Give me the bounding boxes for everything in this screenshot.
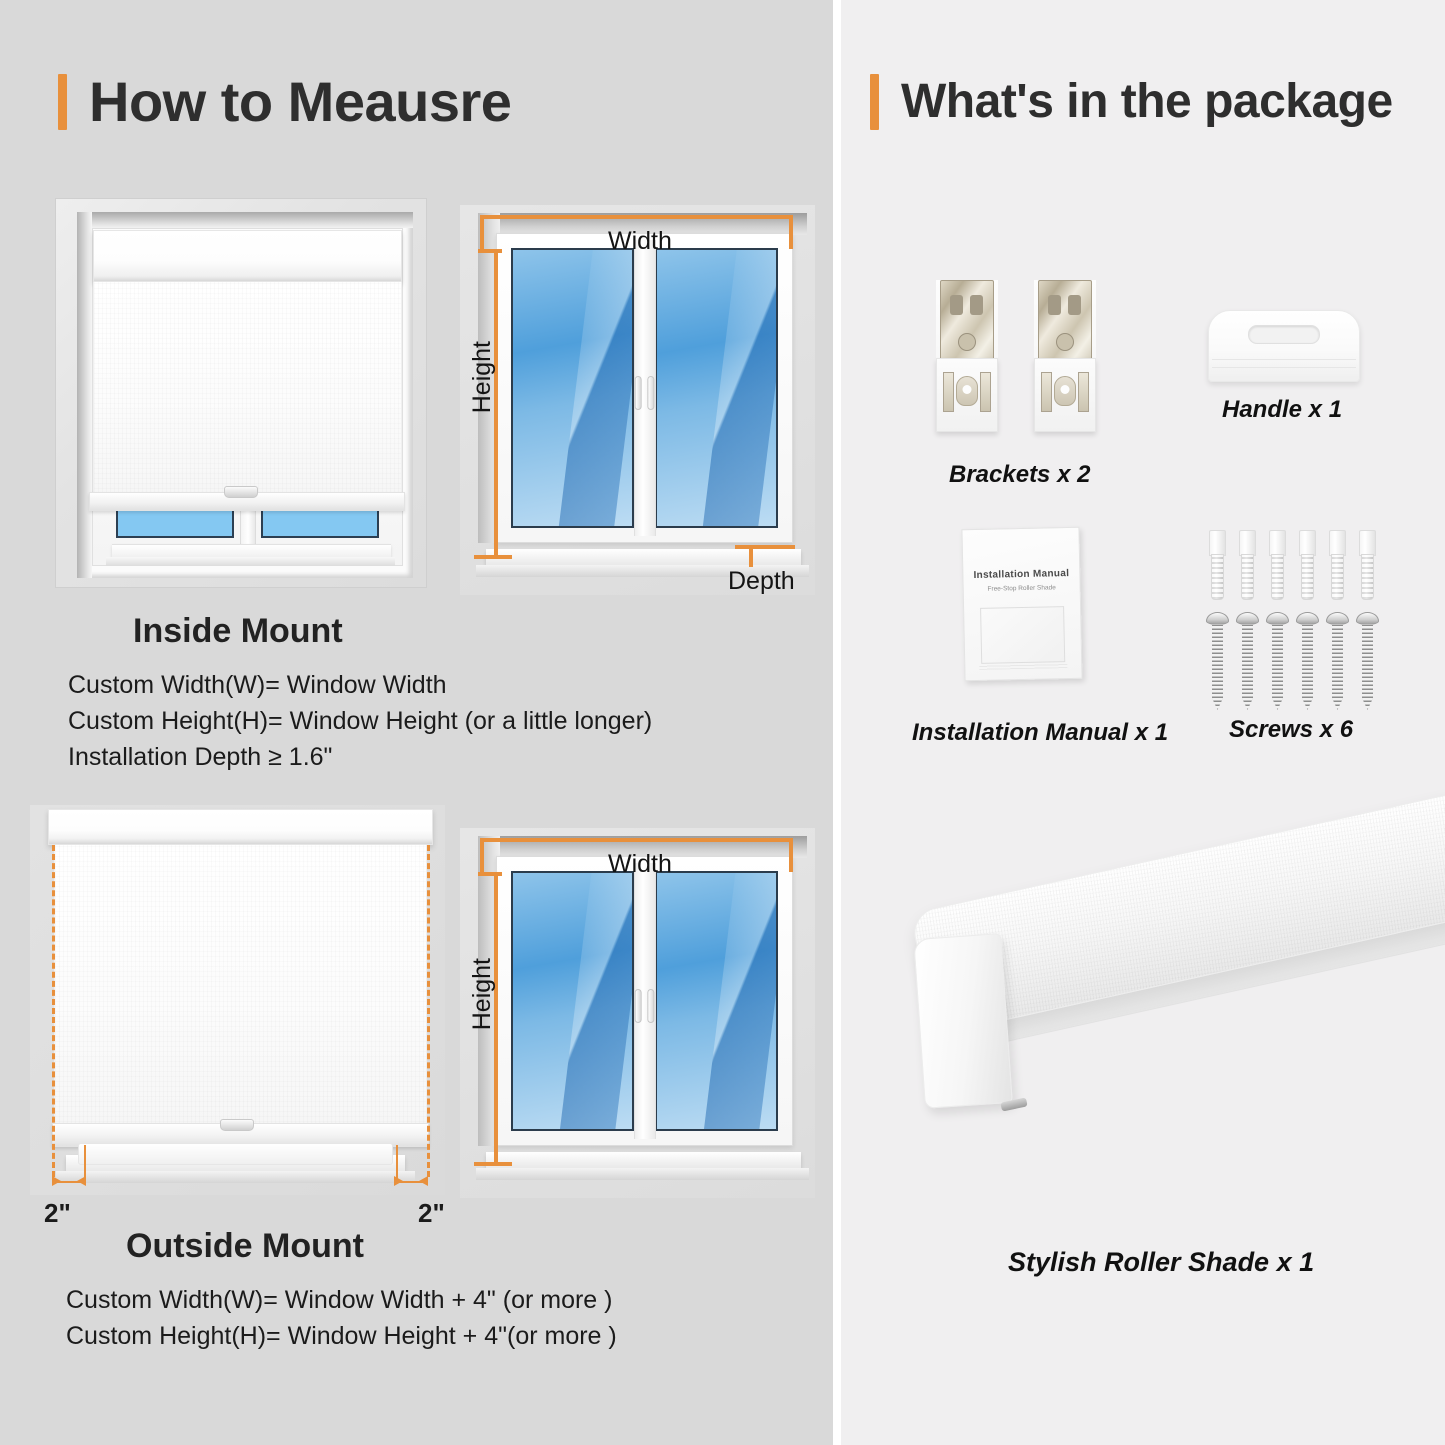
height-dimension-cap-bottom — [474, 555, 512, 559]
anchor-body — [1241, 554, 1254, 600]
accent-bar-icon — [870, 74, 879, 130]
heading-text: What's in the package — [901, 78, 1393, 126]
width-dimension-line — [480, 215, 793, 219]
left-edge-guide-line — [52, 845, 55, 1177]
screw-shaft — [1212, 624, 1223, 710]
inside-mount-line-2: Custom Height(H)= Window Height (or a li… — [68, 707, 652, 736]
right-overhang-arrow-start — [394, 1176, 403, 1186]
roller-shade-label: Stylish Roller Shade x 1 — [1008, 1247, 1314, 1278]
roller-shade-icon — [905, 888, 1440, 1218]
shade-valance — [48, 809, 433, 845]
shade-fabric — [54, 845, 427, 1127]
screw-head — [1296, 612, 1319, 625]
height-dimension-cap-top — [478, 872, 502, 876]
outside-mount-title: Outside Mount — [126, 1227, 364, 1266]
screw-shaft — [1362, 624, 1373, 710]
width-label: Width — [608, 850, 672, 879]
screw-icon — [1270, 612, 1285, 710]
anchor-head — [1329, 530, 1346, 556]
outside-mount-shade-illustration — [30, 805, 445, 1195]
bracket-tab-left — [943, 372, 954, 412]
wall-anchor-icon — [1269, 530, 1286, 600]
brackets-label: Brackets x 2 — [949, 461, 1090, 489]
shade-pull-handle-icon — [224, 486, 258, 498]
manual-cover-subtitle: Free-Stop Roller Shade — [964, 584, 1080, 593]
anchor-body — [1211, 554, 1224, 600]
handle-icon — [1208, 310, 1360, 382]
manual-label: Installation Manual x 1 — [912, 719, 1168, 747]
width-dimension-cap-left — [480, 215, 484, 249]
inside-mount-line-3: Installation Depth ≥ 1.6" — [68, 743, 332, 772]
manual-cover-title: Installation Manual — [963, 568, 1079, 581]
inside-mount-title: Inside Mount — [133, 612, 343, 651]
screw-shaft — [1242, 624, 1253, 710]
screw-icon — [1240, 612, 1255, 710]
window-sill-lip — [56, 1171, 415, 1183]
window-frame — [496, 233, 793, 543]
screw-head — [1236, 612, 1259, 625]
shade-valance — [93, 230, 402, 282]
screw-head — [1326, 612, 1349, 625]
bracket-tab-right — [1078, 372, 1089, 412]
bracket-icon — [1034, 280, 1096, 432]
window-frame-peek — [78, 1143, 393, 1165]
window-pane-right — [655, 248, 778, 528]
bracket-keyhole — [1054, 376, 1076, 406]
window-handle-left-icon — [634, 989, 641, 1023]
height-dimension-cap-top — [478, 249, 502, 253]
depth-label: Depth — [728, 567, 795, 596]
depth-dimension-cap — [749, 549, 753, 567]
bracket-tab-left — [1041, 372, 1052, 412]
window-handle-right-icon — [648, 989, 655, 1023]
anchor-body — [1361, 554, 1374, 600]
package-contents-heading: What's in the package — [870, 74, 1393, 130]
heading-text: How to Meausre — [89, 74, 511, 130]
outside-mount-line-2: Custom Height(H)= Window Height + 4"(or … — [66, 1322, 617, 1351]
right-overhang-label: 2" — [418, 1198, 445, 1229]
depth-dimension-line — [735, 545, 795, 549]
width-dimension-line — [480, 838, 793, 842]
wall-anchor-icon — [1209, 530, 1226, 600]
window-frame — [496, 856, 793, 1146]
accent-bar-icon — [58, 74, 67, 130]
screws-label: Screws x 6 — [1229, 716, 1353, 744]
height-dimension-cap-bottom — [474, 1162, 512, 1166]
window-sill — [486, 1152, 801, 1168]
window-sill — [486, 549, 801, 565]
inside-mount-measure-diagram: Width Height Depth — [460, 205, 815, 595]
window-pane-right — [655, 871, 778, 1131]
window-sill-lip — [106, 557, 395, 566]
bracket-keyhole — [956, 376, 978, 406]
width-dimension-cap-left — [480, 838, 484, 872]
wall-anchor-icon — [1299, 530, 1316, 600]
window-handle-right-icon — [648, 376, 655, 410]
screw-shaft — [1332, 624, 1343, 710]
screw-icon — [1330, 612, 1345, 710]
handle-ridge-1 — [1212, 359, 1356, 360]
screw-head — [1206, 612, 1229, 625]
width-dimension-cap-right — [789, 215, 793, 249]
screw-shaft — [1302, 624, 1313, 710]
screw-head — [1266, 612, 1289, 625]
anchor-head — [1359, 530, 1376, 556]
anchor-body — [1271, 554, 1284, 600]
inside-mount-line-1: Custom Width(W)= Window Width — [68, 671, 447, 700]
anchor-head — [1299, 530, 1316, 556]
screw-icon — [1210, 612, 1225, 710]
manual-cover-footer — [979, 663, 1067, 670]
anchor-head — [1239, 530, 1256, 556]
anchor-body — [1331, 554, 1344, 600]
window-pane-left — [511, 248, 634, 528]
width-dimension-cap-right — [789, 838, 793, 872]
left-overhang-arrow-end — [77, 1176, 86, 1186]
anchor-body — [1301, 554, 1314, 600]
wall-anchor-icon — [1359, 530, 1376, 600]
infographic-page: How to Meausre What's in the package — [0, 0, 1445, 1445]
outside-mount-line-1: Custom Width(W)= Window Width + 4" (or m… — [66, 1286, 612, 1315]
panel-divider — [833, 0, 841, 1445]
screw-icon — [1360, 612, 1375, 710]
bracket-tab-right — [980, 372, 991, 412]
wall-anchor-icon — [1329, 530, 1346, 600]
left-overhang-arrow-start — [52, 1176, 61, 1186]
left-overhang-label: 2" — [44, 1198, 71, 1229]
wall-anchor-icon — [1239, 530, 1256, 600]
height-label: Height — [468, 958, 497, 1030]
handle-ridge-2 — [1212, 367, 1356, 368]
screw-shaft — [1272, 624, 1283, 710]
shade-fabric — [93, 282, 402, 494]
bracket-icon — [936, 280, 998, 432]
anchor-head — [1269, 530, 1286, 556]
roller-shade-end-cap — [913, 933, 1013, 1109]
shade-pull-handle-icon — [220, 1119, 254, 1131]
window-handle-left-icon — [634, 376, 641, 410]
handle-label: Handle x 1 — [1222, 396, 1342, 424]
width-label: Width — [608, 227, 672, 256]
manual-icon: Installation Manual Free-Stop Roller Sha… — [961, 527, 1082, 681]
screw-icon — [1300, 612, 1315, 710]
recess-left-shadow — [77, 212, 92, 578]
screw-head — [1356, 612, 1379, 625]
right-overhang-arrow-end — [419, 1176, 428, 1186]
how-to-measure-heading: How to Meausre — [58, 74, 511, 130]
right-edge-guide-line — [427, 845, 430, 1177]
anchor-head — [1209, 530, 1226, 556]
window-pane-left — [511, 871, 634, 1131]
manual-cover-image — [980, 606, 1065, 664]
inside-mount-shade-illustration — [55, 198, 427, 588]
outside-mount-measure-diagram: Width Height — [460, 828, 815, 1198]
window-sill-lip — [476, 1168, 809, 1180]
recess-top-shadow — [77, 212, 413, 228]
handle-slot — [1248, 325, 1320, 344]
height-label: Height — [468, 341, 497, 413]
